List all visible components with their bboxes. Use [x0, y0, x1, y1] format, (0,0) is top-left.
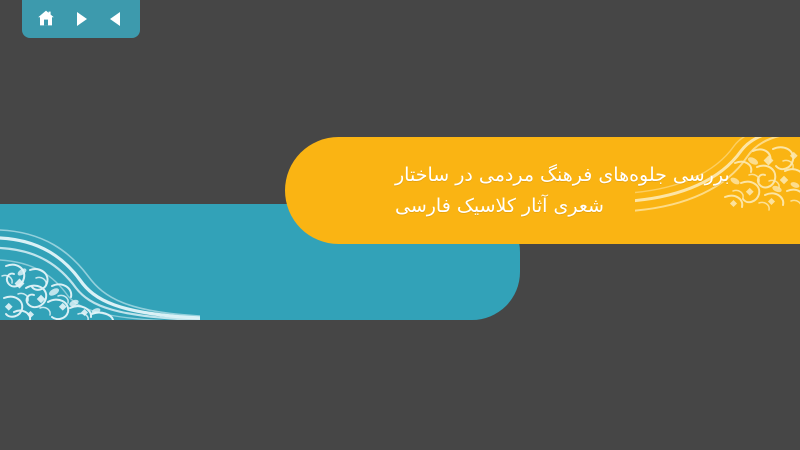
forward-icon: [72, 10, 90, 28]
back-icon: [107, 10, 125, 28]
back-button[interactable]: [103, 6, 129, 32]
slide-canvas: بررسی جلوه‌های فرهنگ مردمی در ساختار شعر…: [0, 0, 800, 450]
forward-button[interactable]: [68, 6, 94, 32]
slide-title: بررسی جلوه‌های فرهنگ مردمی در ساختار شعر…: [395, 137, 756, 244]
title-line-1: بررسی جلوه‌های فرهنگ مردمی در ساختار: [395, 160, 730, 191]
home-button[interactable]: [33, 6, 59, 32]
home-icon: [36, 9, 56, 29]
navigation-bar: [22, 0, 140, 38]
arabesque-corner-ornament: [0, 204, 200, 320]
orange-title-banner: بررسی جلوه‌های فرهنگ مردمی در ساختار شعر…: [285, 137, 800, 244]
title-line-2: شعری آثار کلاسیک فارسی: [395, 191, 604, 222]
